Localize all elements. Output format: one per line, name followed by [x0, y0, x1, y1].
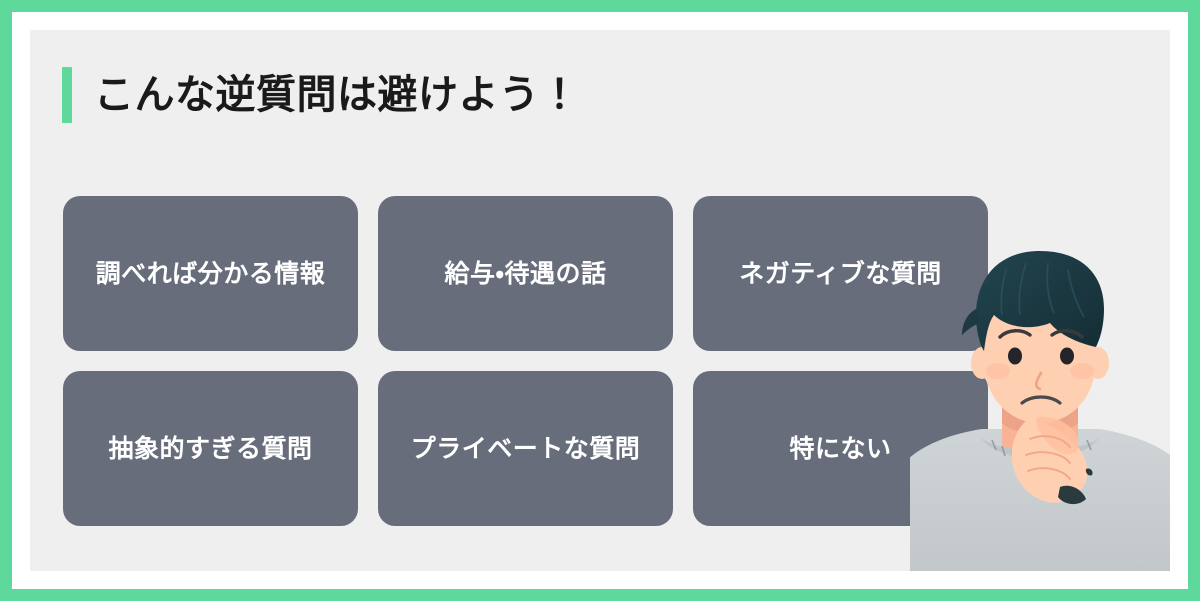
card-item[interactable]: 抽象的すぎる質問 [63, 371, 358, 526]
card-grid: 調べれば分かる情報 給与・待遇の話 ネガティブな質問 抽象的すぎる質問 プライベ… [63, 196, 989, 526]
card-item[interactable]: ネガティブな質問 [693, 196, 988, 351]
slide-inner-border: こんな逆質問は避けよう！ 調べれば分かる情報 給与・待遇の話 ネガティブな質問 … [12, 12, 1188, 589]
page-title: こんな逆質問は避けよう！ [62, 66, 580, 124]
card-label: 給与・待遇の話 [444, 259, 606, 289]
card-item[interactable]: 調べれば分かる情報 [63, 196, 358, 351]
card-item[interactable]: 給与・待遇の話 [378, 196, 673, 351]
card-label: ネガティブな質問 [739, 259, 942, 289]
slide-frame: こんな逆質問は避けよう！ 調べれば分かる情報 給与・待遇の話 ネガティブな質問 … [0, 0, 1200, 601]
card-label: プライベートな質問 [411, 434, 641, 464]
slide-panel: こんな逆質問は避けよう！ 調べれば分かる情報 給与・待遇の話 ネガティブな質問 … [30, 30, 1170, 571]
card-label: 抽象的すぎる質問 [108, 434, 312, 464]
card-label: 調べれば分かる情報 [96, 259, 326, 289]
card-item[interactable]: プライベートな質問 [378, 371, 673, 526]
title-text: こんな逆質問は避けよう！ [94, 75, 580, 115]
title-accent-bar [62, 67, 72, 123]
card-label: 特にない [789, 434, 891, 464]
card-item[interactable]: 特にない [693, 371, 988, 526]
